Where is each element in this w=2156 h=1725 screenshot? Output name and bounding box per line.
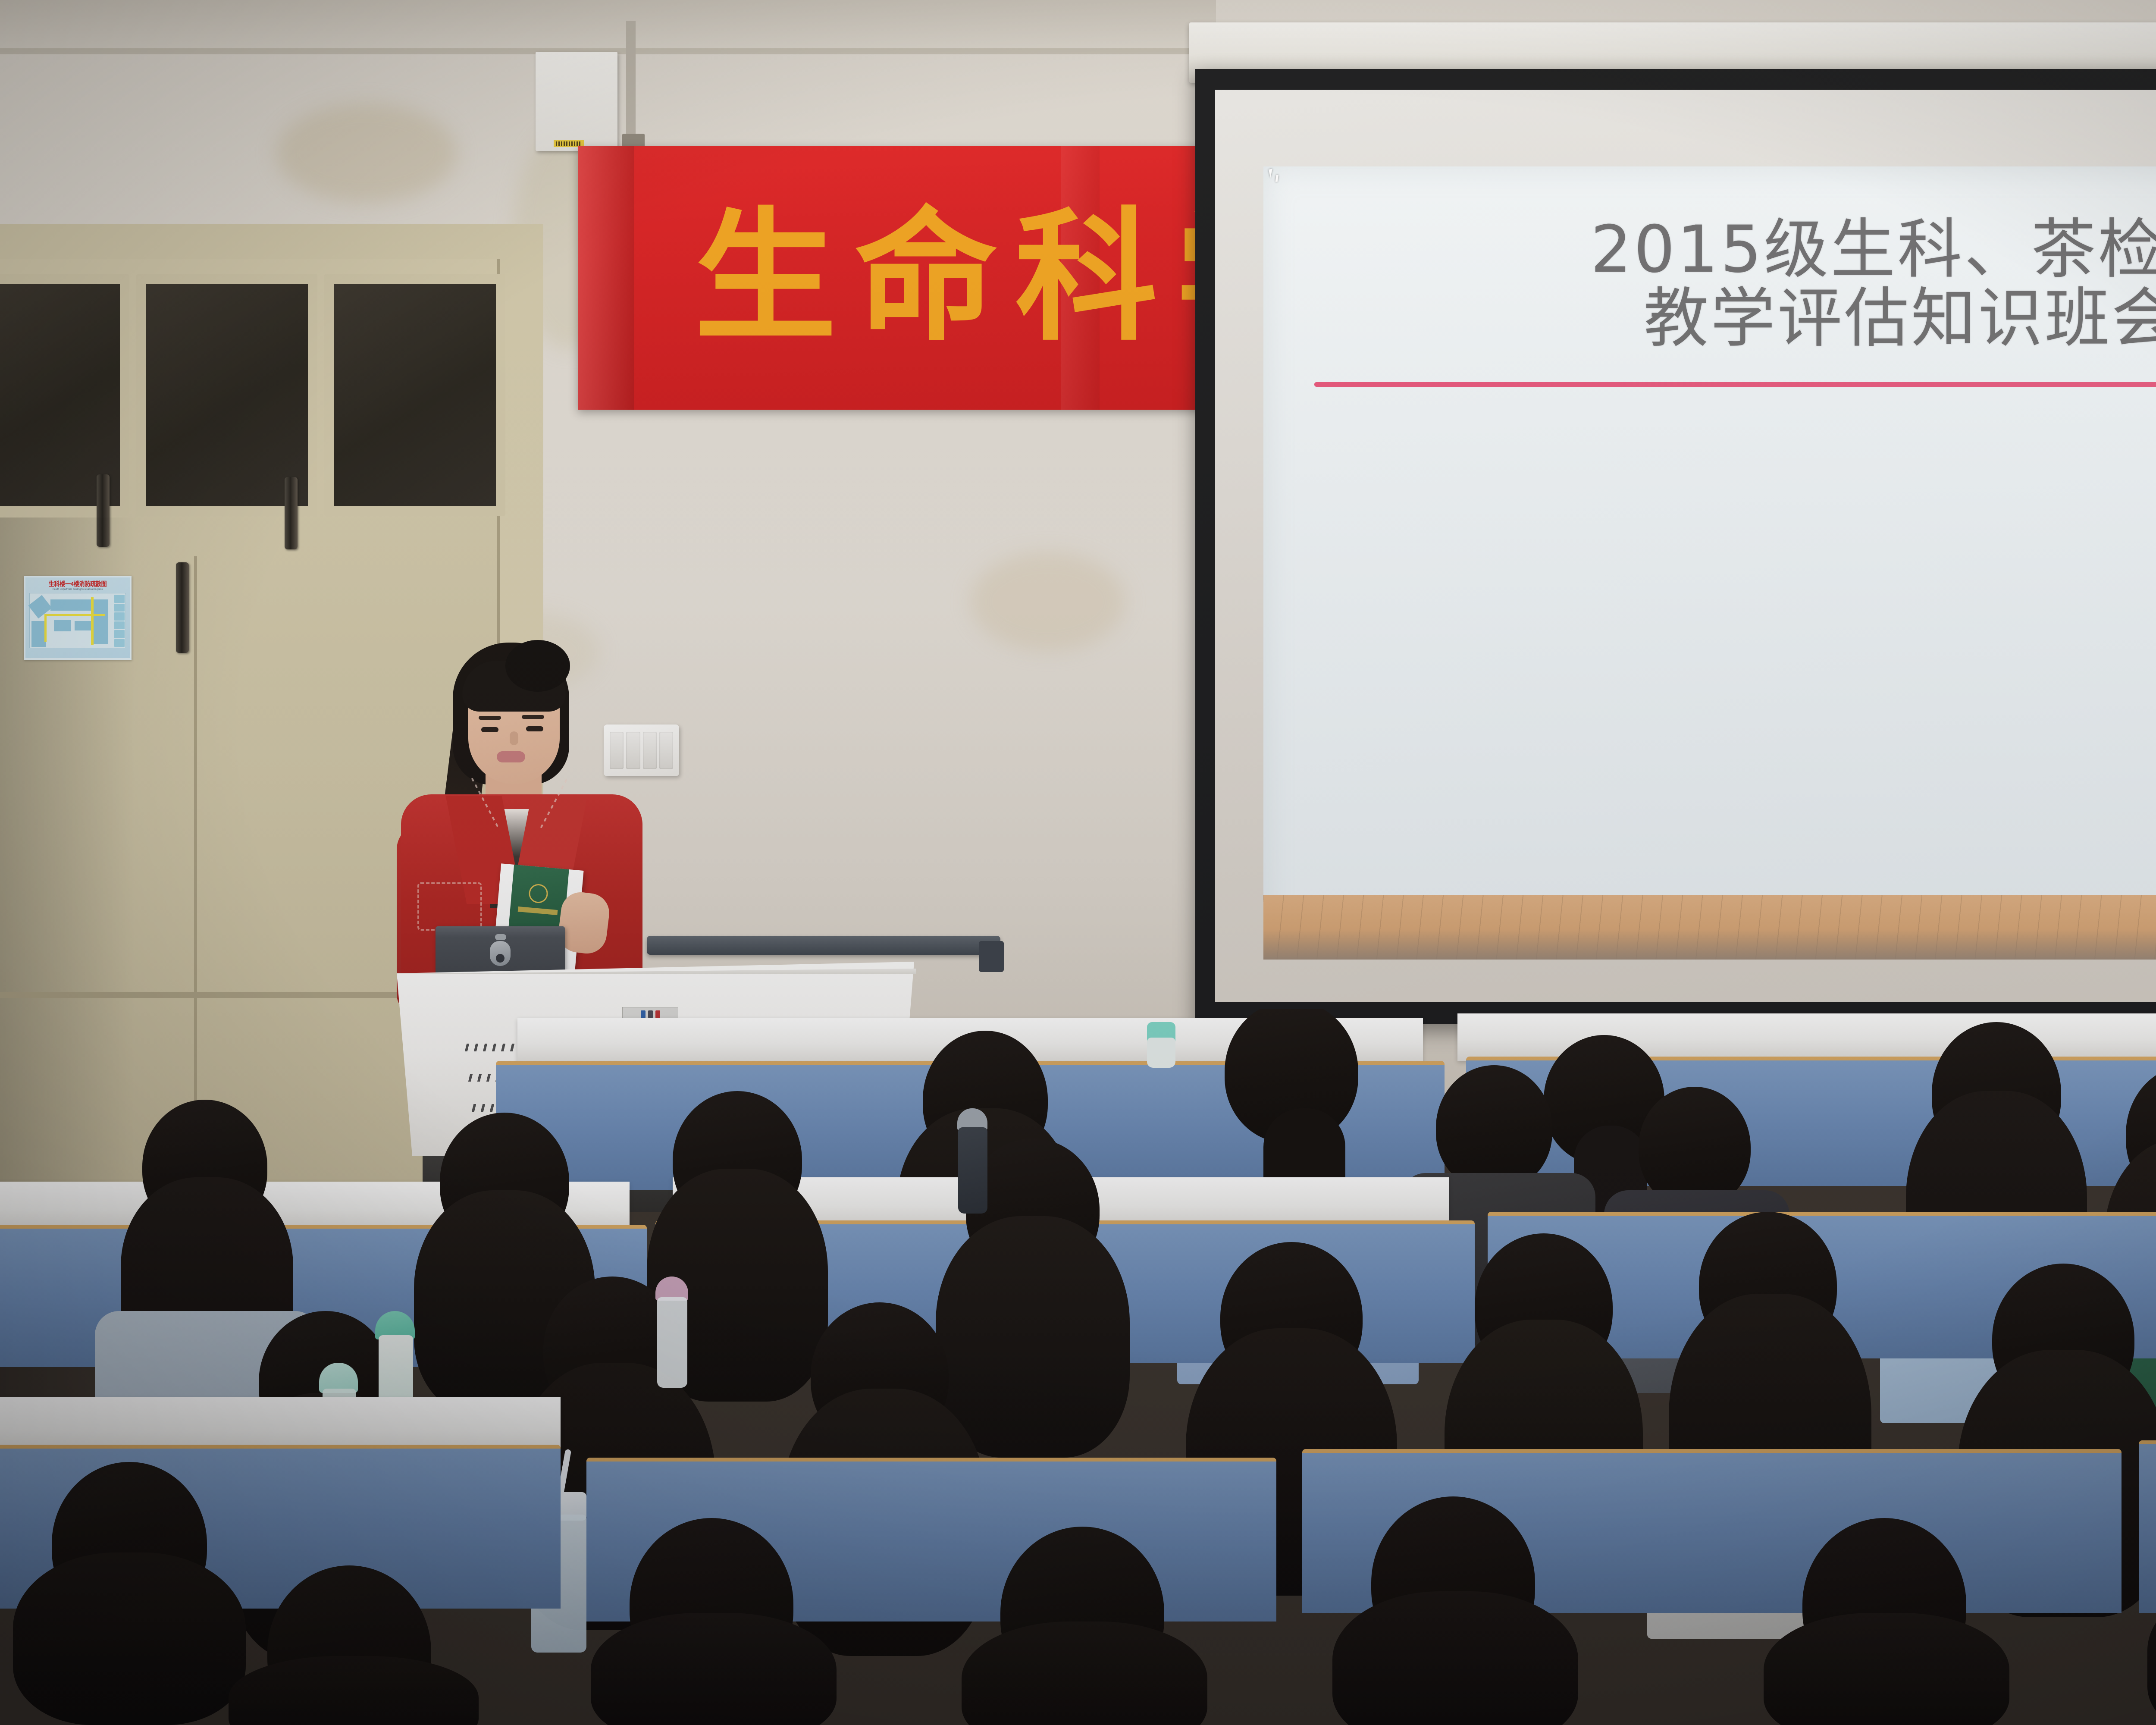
mouse-cursor-icon <box>1269 169 1274 178</box>
presenter-eye <box>481 727 498 732</box>
person-hair <box>591 1613 837 1725</box>
podium-rail-end <box>979 941 1004 972</box>
ceiling-band <box>0 0 1216 52</box>
cup <box>1147 1038 1175 1068</box>
transom-latch[interactable] <box>97 474 110 547</box>
wall-stain <box>970 552 1125 651</box>
presenter-laptop[interactable] <box>436 926 565 975</box>
screen-surface: 2015级生科、茶检班 教学评估知识班会 <box>1215 90 2156 1002</box>
classroom-photo-scene: 生科楼一4楼消防疏散图 Health Department building f… <box>0 0 2156 1725</box>
electrical-panel-box <box>536 52 617 151</box>
podium-rail <box>647 936 1000 955</box>
presenter-hair-bun <box>505 640 570 692</box>
presenter-eye <box>526 726 543 731</box>
water-bottle <box>958 1127 987 1214</box>
conduit-pipe <box>626 21 636 150</box>
projection-screen: 2015级生科、茶检班 教学评估知识班会 <box>1195 69 2156 1024</box>
person-hair <box>936 1216 1130 1458</box>
seat-row[interactable] <box>2139 1440 2156 1613</box>
transom-window <box>0 274 129 516</box>
projected-slide: 2015级生科、茶检班 教学评估知识班会 <box>1263 166 2156 960</box>
door-handle[interactable] <box>176 562 189 653</box>
laptop-logo-icon <box>490 941 511 966</box>
person-hair <box>13 1552 246 1725</box>
person-hair <box>1332 1591 1578 1725</box>
handbook-emblem-icon <box>528 883 549 904</box>
person-head <box>1436 1065 1552 1190</box>
slide-title-line-2: 教学评估知识班会 <box>1263 277 2156 361</box>
slide-underline-rule <box>1314 382 2156 387</box>
person-head <box>1639 1087 1751 1207</box>
presenter-jacket-pocket <box>417 882 482 931</box>
water-bottle <box>657 1297 687 1388</box>
audience-area <box>0 1009 2156 1725</box>
poster-floorplan <box>29 593 126 648</box>
transom-latch[interactable] <box>285 477 298 549</box>
person-hair <box>1764 1613 2009 1725</box>
fire-evacuation-poster: 生科楼一4楼消防疏散图 Health Department building f… <box>24 576 132 660</box>
transom-window <box>324 274 505 516</box>
presenter-mouth <box>497 751 525 762</box>
poster-subtitle: Health Department building fire evacuati… <box>34 588 121 591</box>
person-hair <box>962 1621 1207 1725</box>
poster-title: 生科楼一4楼消防疏散图 <box>35 581 120 587</box>
wall-stain <box>276 103 457 203</box>
person-hair <box>229 1656 479 1725</box>
